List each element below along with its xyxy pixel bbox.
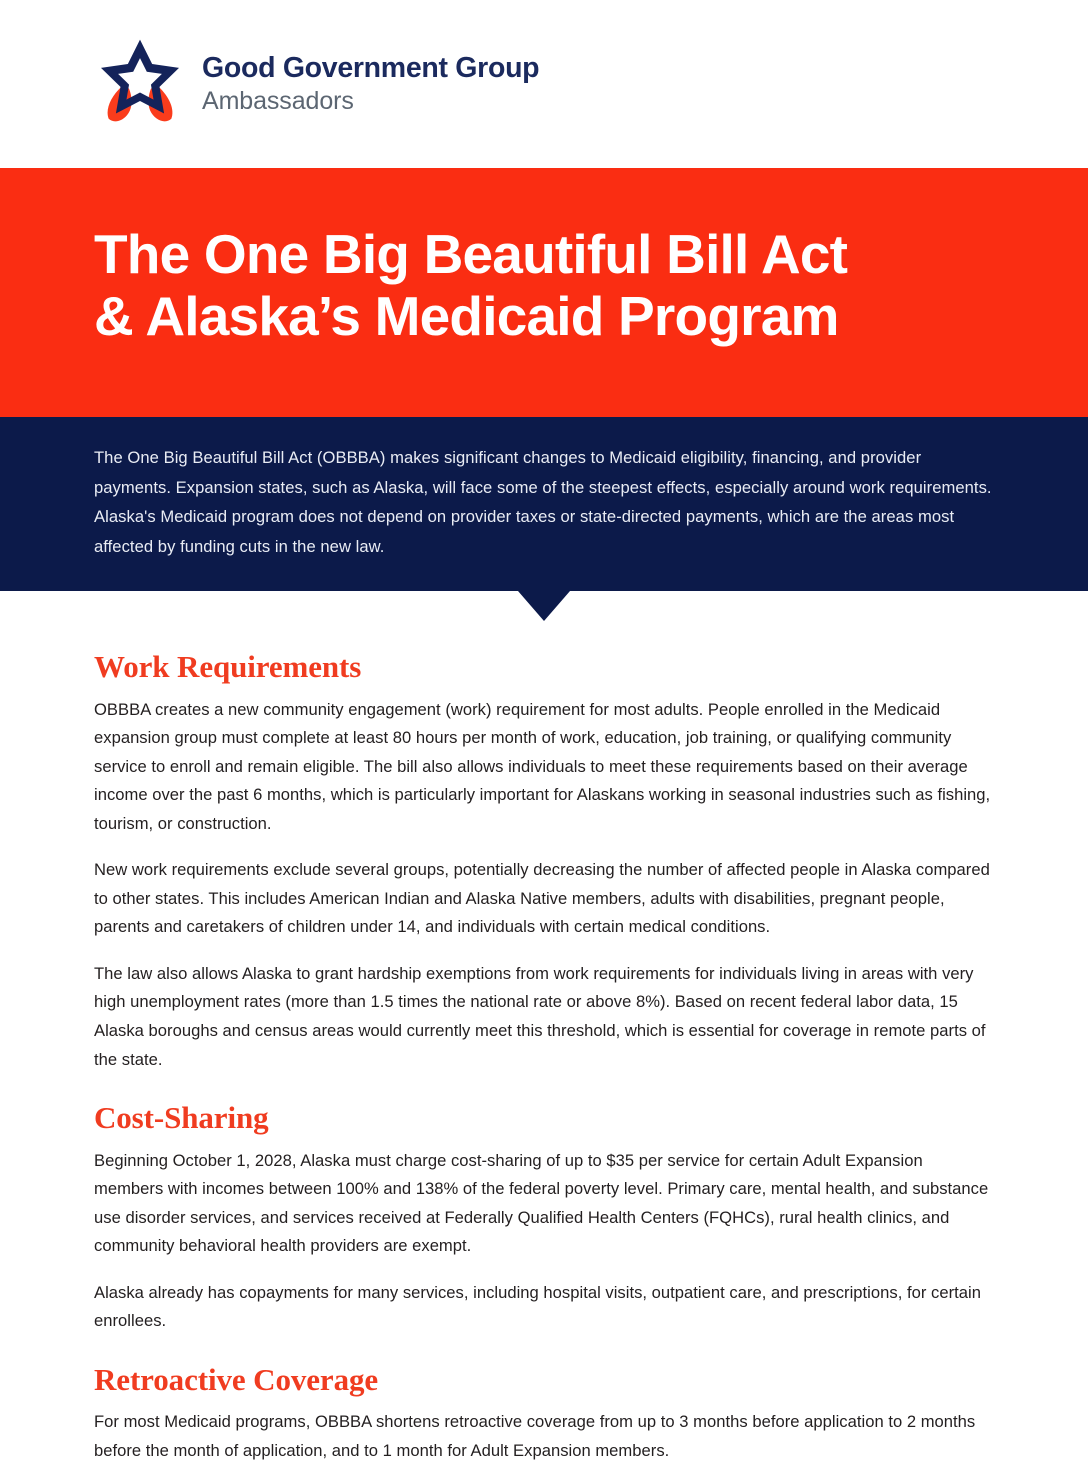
section-heading: Cost-Sharing bbox=[94, 1100, 994, 1137]
section-paragraph: For most Medicaid programs, OBBBA shorte… bbox=[94, 1408, 994, 1465]
intro-banner: The One Big Beautiful Bill Act (OBBBA) m… bbox=[0, 417, 1088, 591]
logo-title: Good Government Group bbox=[202, 53, 539, 85]
logo-wordmark: Good Government Group Ambassadors bbox=[202, 53, 539, 115]
section-work-requirements: Work Requirements OBBBA creates a new co… bbox=[94, 649, 994, 1074]
intro-paragraph: The One Big Beautiful Bill Act (OBBBA) m… bbox=[94, 443, 994, 561]
main-content: Work Requirements OBBBA creates a new co… bbox=[0, 591, 1088, 1465]
downward-triangle-pointer-icon bbox=[518, 591, 570, 621]
section-cost-sharing: Cost-Sharing Beginning October 1, 2028, … bbox=[94, 1100, 994, 1336]
section-paragraph: Beginning October 1, 2028, Alaska must c… bbox=[94, 1147, 994, 1261]
section-paragraph: Alaska already has copayments for many s… bbox=[94, 1279, 994, 1336]
title-banner: The One Big Beautiful Bill Act & Alaska’… bbox=[0, 168, 1088, 417]
page-title: The One Big Beautiful Bill Act & Alaska’… bbox=[94, 224, 994, 347]
section-paragraph: New work requirements exclude several gr… bbox=[94, 856, 994, 942]
section-heading: Work Requirements bbox=[94, 649, 994, 686]
star-with-swoosh-logo-icon bbox=[94, 36, 186, 128]
section-heading: Retroactive Coverage bbox=[94, 1362, 994, 1399]
section-retroactive-coverage: Retroactive Coverage For most Medicaid p… bbox=[94, 1362, 994, 1465]
section-paragraph: OBBBA creates a new community engagement… bbox=[94, 696, 994, 839]
logo-subtitle: Ambassadors bbox=[202, 87, 539, 115]
section-paragraph: The law also allows Alaska to grant hard… bbox=[94, 960, 994, 1074]
page-header: Good Government Group Ambassadors bbox=[0, 0, 1088, 168]
